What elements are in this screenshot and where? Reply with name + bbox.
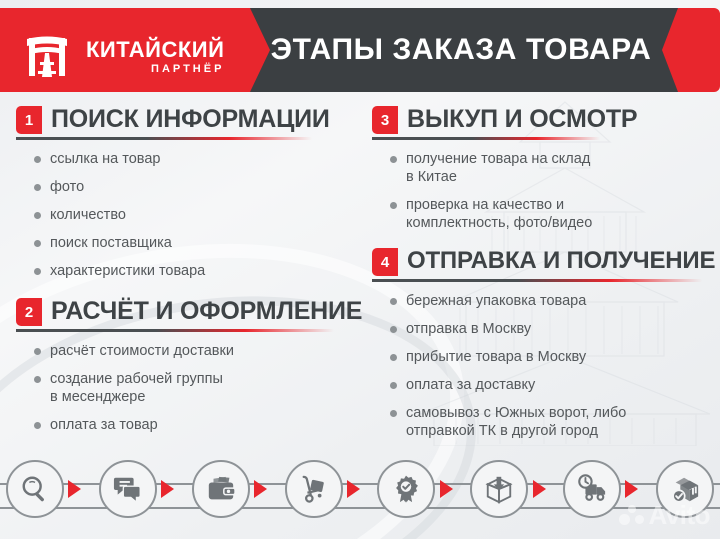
section-3: 3 ВЫКУП И ОСМОТР получение товара на скл…: [372, 104, 712, 232]
process-step-search[interactable]: [6, 460, 64, 518]
list-item: характеристики товара: [50, 262, 366, 280]
quality-badge-icon: [391, 474, 421, 504]
section-2: 2 РАСЧЁТ И ОФОРМЛЕНИЕ расчёт стоимости д…: [16, 296, 366, 434]
list-item: поиск поставщика: [50, 234, 366, 252]
process-steps: [0, 439, 720, 539]
box-packing-icon: [484, 474, 514, 504]
section-4-heading: 4 ОТПРАВКА И ПОЛУЧЕНИЕ: [372, 246, 712, 280]
list-item: получение товара на склад в Китае: [406, 150, 712, 186]
list-item: фото: [50, 178, 366, 196]
list-item-line1: создание рабочей группы: [50, 371, 223, 387]
section-2-number: 2: [16, 298, 42, 326]
chat-bubbles-icon: [113, 474, 143, 504]
list-item: оплата за товар: [50, 416, 366, 434]
section-3-number: 3: [372, 106, 398, 134]
list-item: бережная упаковка товара: [406, 292, 712, 310]
process-step-packing[interactable]: [470, 460, 528, 518]
section-2-title: РАСЧЁТ И ОФОРМЛЕНИЕ: [51, 296, 362, 330]
process-step-chat[interactable]: [99, 460, 157, 518]
list-item: отправка в Москву: [406, 320, 712, 338]
list-item-line1: характеристики товара: [50, 263, 205, 279]
list-item-line1: расчёт стоимости доставки: [50, 343, 234, 359]
list-item-line1: прибытие товара в Москву: [406, 349, 586, 365]
red-triangle-arrow-icon: [347, 480, 373, 498]
red-triangle-arrow-icon: [254, 480, 280, 498]
list-item-line1: самовывоз с Южных ворот, либо: [406, 405, 626, 421]
magnifier-icon: [20, 474, 50, 504]
list-item-line1: поиск поставщика: [50, 235, 172, 251]
section-4-title: ОТПРАВКА И ПОЛУЧЕНИЕ: [407, 246, 715, 280]
brand-name: КИТАЙСКИЙ ПАРТНЁР: [86, 39, 224, 75]
red-triangle-arrow-icon: [533, 480, 559, 498]
hand-truck-icon: [299, 474, 329, 504]
list-item: количество: [50, 206, 366, 224]
list-item-line1: бережная упаковка товара: [406, 293, 586, 309]
section-2-list: расчёт стоимости доставки создание рабоч…: [16, 342, 366, 434]
section-3-list: получение товара на склад в Китае провер…: [372, 150, 712, 232]
section-1-heading: 1 ПОИСК ИНФОРМАЦИИ: [16, 104, 366, 138]
process-step-handtruck[interactable]: [285, 460, 343, 518]
list-item-line2: отправкой ТК в другой город: [406, 422, 712, 440]
section-3-title: ВЫКУП И ОСМОТР: [407, 104, 637, 138]
section-1-number: 1: [16, 106, 42, 134]
left-column: 1 ПОИСК ИНФОРМАЦИИ ссылка на товар фото …: [16, 104, 366, 444]
list-item: проверка на качество и комплектность, фо…: [406, 196, 712, 232]
list-item: прибытие товара в Москву: [406, 348, 712, 366]
red-triangle-arrow-icon: [161, 480, 187, 498]
list-item-line1: оплата за доставку: [406, 377, 535, 393]
brand-name-line1: КИТАЙСКИЙ: [86, 39, 224, 61]
list-item-line1: отправка в Москву: [406, 321, 531, 337]
brand-logo[interactable]: КИТАЙСКИЙ ПАРТНЁР: [18, 26, 218, 88]
red-triangle-arrow-icon: [625, 480, 651, 498]
list-item: создание рабочей группы в месенджере: [50, 370, 366, 406]
delivery-truck-clock-icon: [577, 474, 607, 504]
section-4-number: 4: [372, 248, 398, 276]
process-step-quality[interactable]: [377, 460, 435, 518]
section-4-list: бережная упаковка товара отправка в Моск…: [372, 292, 712, 440]
list-item-line2: комплектность, фото/видео: [406, 214, 712, 232]
page-title: ЭТАПЫ ЗАКАЗА ТОВАРА: [256, 8, 666, 92]
section-1-list: ссылка на товар фото количество поиск по…: [16, 150, 366, 280]
list-item: расчёт стоимости доставки: [50, 342, 366, 360]
list-item-line1: ссылка на товар: [50, 151, 160, 167]
process-step-shipping[interactable]: [563, 460, 621, 518]
process-strip: Avito: [0, 439, 720, 539]
list-item-line2: в месенджере: [50, 388, 366, 406]
section-2-heading: 2 РАСЧЁТ И ОФОРМЛЕНИЕ: [16, 296, 366, 330]
list-item-line1: оплата за товар: [50, 417, 158, 433]
avito-dots-icon: [619, 505, 645, 527]
section-1-title: ПОИСК ИНФОРМАЦИИ: [51, 104, 330, 138]
list-item: оплата за доставку: [406, 376, 712, 394]
red-triangle-arrow-icon: [440, 480, 466, 498]
list-item-line1: получение товара на склад: [406, 151, 590, 167]
list-item-line1: количество: [50, 207, 126, 223]
section-3-heading: 3 ВЫКУП И ОСМОТР: [372, 104, 712, 138]
red-triangle-arrow-icon: [68, 480, 94, 498]
list-item-line1: фото: [50, 179, 84, 195]
torii-gate-icon: [18, 29, 76, 85]
poster-root: ЭТАПЫ ЗАКАЗА ТОВАРА КИТ: [0, 0, 720, 539]
list-item: ссылка на товар: [50, 150, 366, 168]
section-4: 4 ОТПРАВКА И ПОЛУЧЕНИЕ бережная упаковка…: [372, 246, 712, 440]
avito-watermark: Avito: [619, 500, 710, 531]
list-item: самовывоз с Южных ворот, либо отправкой …: [406, 404, 712, 440]
wallet-icon: [206, 474, 236, 504]
process-step-payment[interactable]: [192, 460, 250, 518]
section-1: 1 ПОИСК ИНФОРМАЦИИ ссылка на товар фото …: [16, 104, 366, 280]
list-item-line2: в Китае: [406, 168, 712, 186]
avito-wordmark: Avito: [648, 500, 710, 531]
brand-name-line2: ПАРТНЁР: [86, 64, 224, 75]
right-column: 3 ВЫКУП И ОСМОТР получение товара на скл…: [372, 104, 712, 450]
poster-header: ЭТАПЫ ЗАКАЗА ТОВАРА КИТ: [0, 8, 720, 92]
list-item-line1: проверка на качество и: [406, 197, 564, 213]
